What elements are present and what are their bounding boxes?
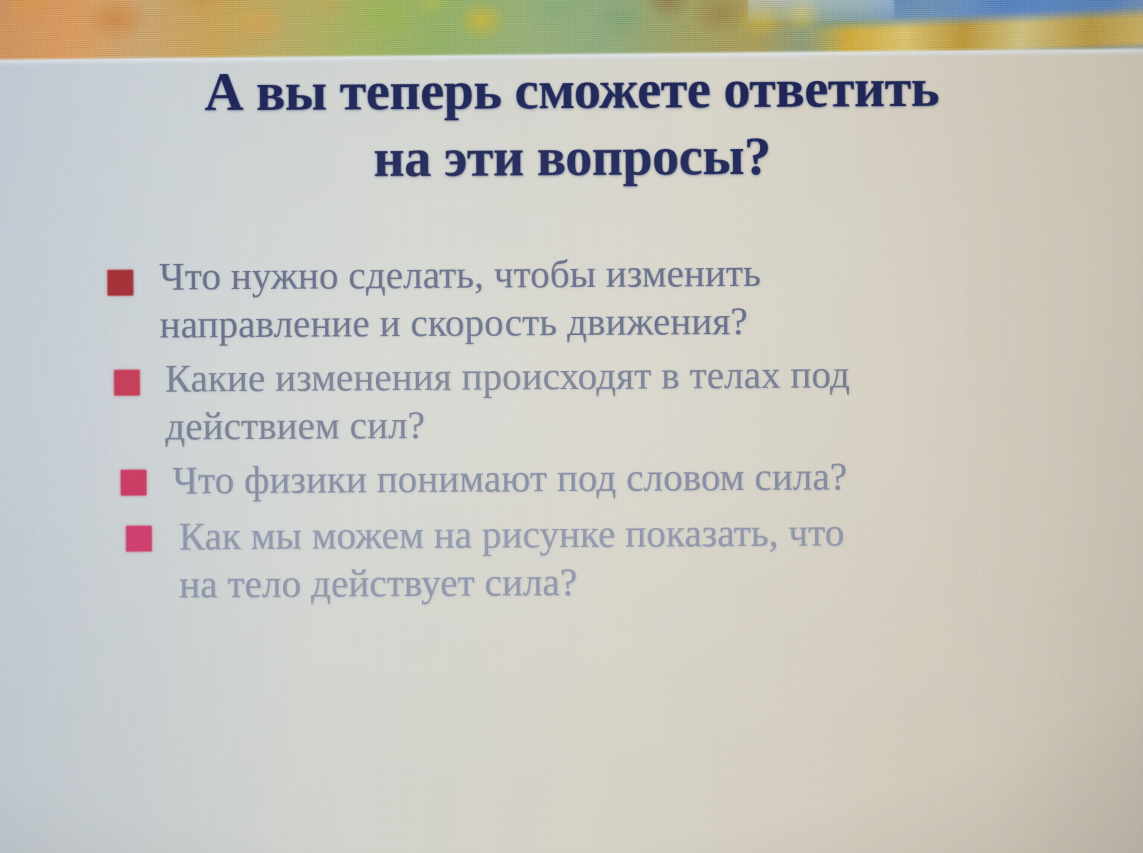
bullet-item-1: Что нужно сделать, чтобы изменить направ… <box>1 248 1143 351</box>
square-bullet-icon <box>114 370 140 396</box>
square-bullet-icon <box>126 525 152 551</box>
bullet-item-2-text: Какие изменения происходят в телах под д… <box>165 349 1143 451</box>
square-bullet-icon <box>107 270 133 296</box>
slide-content: А вы теперь сможете ответить на эти вопр… <box>0 54 1143 853</box>
bullet-item-4-text: Как мы можем на рисунке показать, что на… <box>179 507 1143 609</box>
bullet-item-3-text: Что физики понимают под словом сила? <box>172 451 1143 505</box>
slide-bullet-list: Что нужно сделать, чтобы изменить направ… <box>1 248 1143 621</box>
slide-title-line-1: А вы теперь сможете ответить <box>0 60 1143 122</box>
bullet-item-1-text: Что нужно сделать, чтобы изменить направ… <box>159 248 1143 350</box>
bullet-item-4: Как мы можем на рисунке показать, что на… <box>3 507 1143 610</box>
bullet-item-2: Какие изменения происходят в телах под д… <box>2 349 1143 452</box>
slide-title-line-2: на эти вопросы? <box>0 126 1143 188</box>
square-bullet-icon <box>121 469 147 495</box>
bullet-item-3: Что физики понимают под словом сила? <box>2 451 1143 506</box>
slide-title: А вы теперь сможете ответить на эти вопр… <box>0 60 1143 188</box>
screenshot-root: А вы теперь сможете ответить на эти вопр… <box>0 0 1143 853</box>
